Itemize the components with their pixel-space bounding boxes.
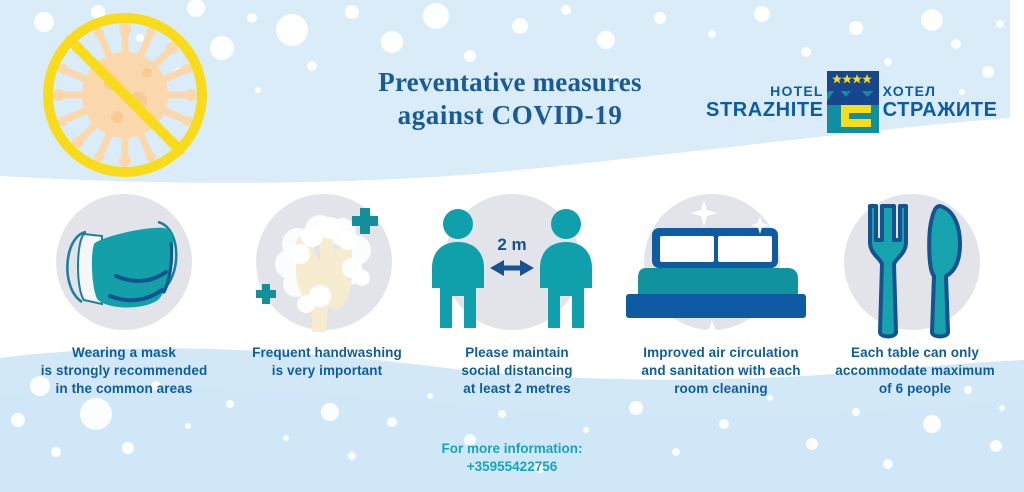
measure-icon-bed <box>612 192 812 342</box>
contact-phone[interactable]: +35955422756 <box>362 458 662 476</box>
caption-line-3: in the common areas <box>9 380 239 398</box>
handwashing-icon <box>224 192 424 342</box>
title-line-2: against COVID-19 <box>330 99 690 132</box>
logo-cyrillic-line-2: СТРАЖИТЕ <box>883 100 998 120</box>
title-line-1: Preventative measures <box>330 66 690 99</box>
logo-latin-line-2: STRAZHITE <box>706 100 824 120</box>
caption-line-1: Wearing a mask <box>9 344 239 362</box>
caption-cutlery: Each table can only accommodate maximum … <box>800 344 1024 397</box>
caption-line-2: social distancing <box>402 362 632 380</box>
infographic-poster: Preventative measures against COVID-19 H… <box>0 0 1024 492</box>
logo-cyrillic-line-1: ХОТЕЛ <box>883 84 998 98</box>
caption-line-2: accommodate maximum <box>800 362 1024 380</box>
distance-label: 2 m <box>497 235 526 254</box>
measures-icon-row: 2 m <box>0 192 1024 342</box>
cutlery-icon <box>812 192 1012 342</box>
measure-icon-handwash <box>224 192 424 342</box>
caption-line-1: Please maintain <box>402 344 632 362</box>
caption-distancing: Please maintain social distancing at lea… <box>402 344 632 397</box>
caption-mask: Wearing a mask is strongly recommended i… <box>9 344 239 397</box>
knife <box>929 206 960 337</box>
logo-cyrillic-text: ХОТЕЛ СТРАЖИТЕ <box>879 84 998 120</box>
caption-line-2: is strongly recommended <box>9 362 239 380</box>
person-right <box>540 209 592 328</box>
hotel-logo[interactable]: HOTEL STRAZHITE <box>706 68 986 136</box>
logo-latin-text: HOTEL STRAZHITE <box>706 84 827 120</box>
caption-line-1: Each table can only <box>800 344 1024 362</box>
caption-line-3: at least 2 metres <box>402 380 632 398</box>
bed-icon <box>612 192 812 342</box>
measure-icon-distancing: 2 m <box>412 192 612 342</box>
measure-icon-mask <box>24 192 224 342</box>
contact-info: For more information: +35955422756 <box>362 440 662 476</box>
logo-latin-line-1: HOTEL <box>706 84 824 98</box>
page-title: Preventative measures against COVID-19 <box>330 66 690 132</box>
face-mask-icon <box>24 192 224 342</box>
measure-captions: Wearing a mask is strongly recommended i… <box>0 344 1024 414</box>
person-left <box>432 209 484 328</box>
logo-emblem <box>827 71 879 133</box>
social-distancing-icon: 2 m <box>412 192 612 342</box>
contact-label: For more information: <box>362 440 662 458</box>
measure-icon-cutlery <box>812 192 1012 342</box>
fork <box>870 206 906 337</box>
caption-line-3: of 6 people <box>800 380 1024 398</box>
